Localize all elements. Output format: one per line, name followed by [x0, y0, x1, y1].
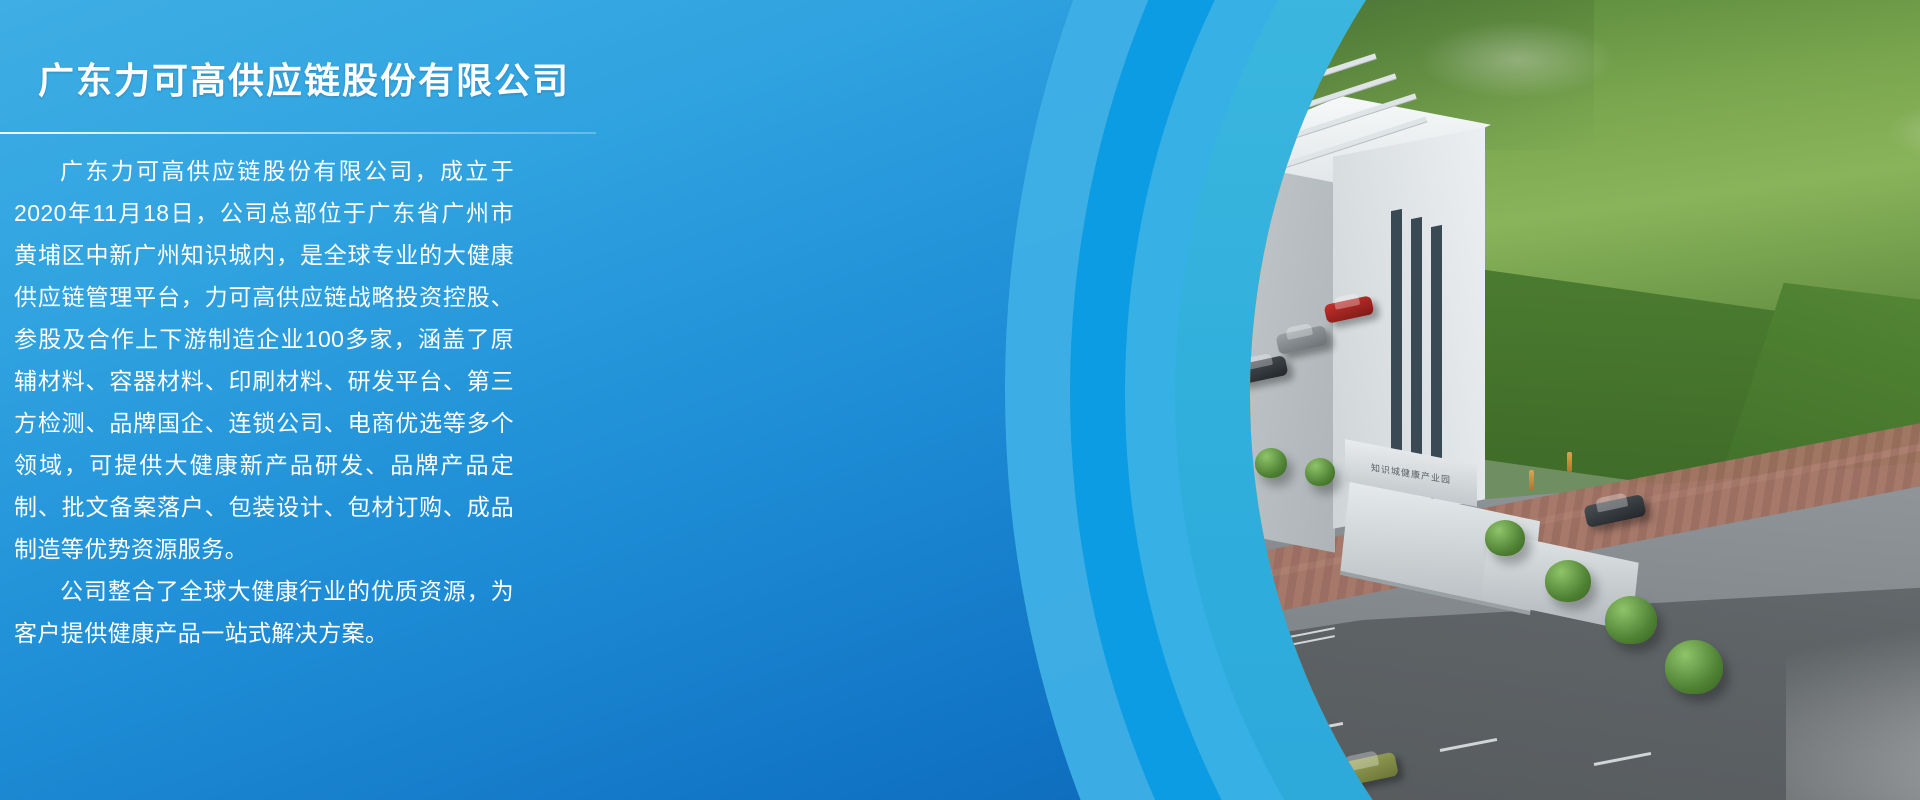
- page-title: 广东力可高供应链股份有限公司: [38, 52, 570, 104]
- text-panel: 广东力可高供应链股份有限公司 广东力可高供应链股份有限公司，成立于2020年11…: [0, 0, 660, 800]
- signboard-text: 知识城健康产业园: [1371, 460, 1451, 486]
- tree: [1545, 560, 1591, 602]
- company-description: 广东力可高供应链股份有限公司，成立于2020年11月18日，公司总部位于广东省广…: [14, 150, 514, 654]
- building-rendering-image: 知识城健康产业园: [1250, 0, 1920, 800]
- block-facade-left: [1250, 153, 1335, 552]
- tree: [1605, 596, 1657, 644]
- photo-disc-mask: 知识城健康产业园: [1250, 0, 1920, 800]
- banner-stage: 知识城健康产业园 广东力可高供应: [0, 0, 1920, 800]
- paragraph-1: 广东力可高供应链股份有限公司，成立于2020年11月18日，公司总部位于广东省广…: [14, 150, 514, 570]
- foreground-haze: [1786, 610, 1920, 800]
- tree: [1305, 458, 1335, 486]
- title-divider: [0, 132, 596, 134]
- bollard: [1567, 452, 1572, 472]
- tree: [1485, 520, 1525, 556]
- tree: [1255, 448, 1287, 478]
- paragraph-2: 公司整合了全球大健康行业的优质资源，为客户提供健康产品一站式解决方案。: [14, 570, 514, 654]
- tree: [1665, 640, 1723, 694]
- bollard: [1529, 470, 1534, 490]
